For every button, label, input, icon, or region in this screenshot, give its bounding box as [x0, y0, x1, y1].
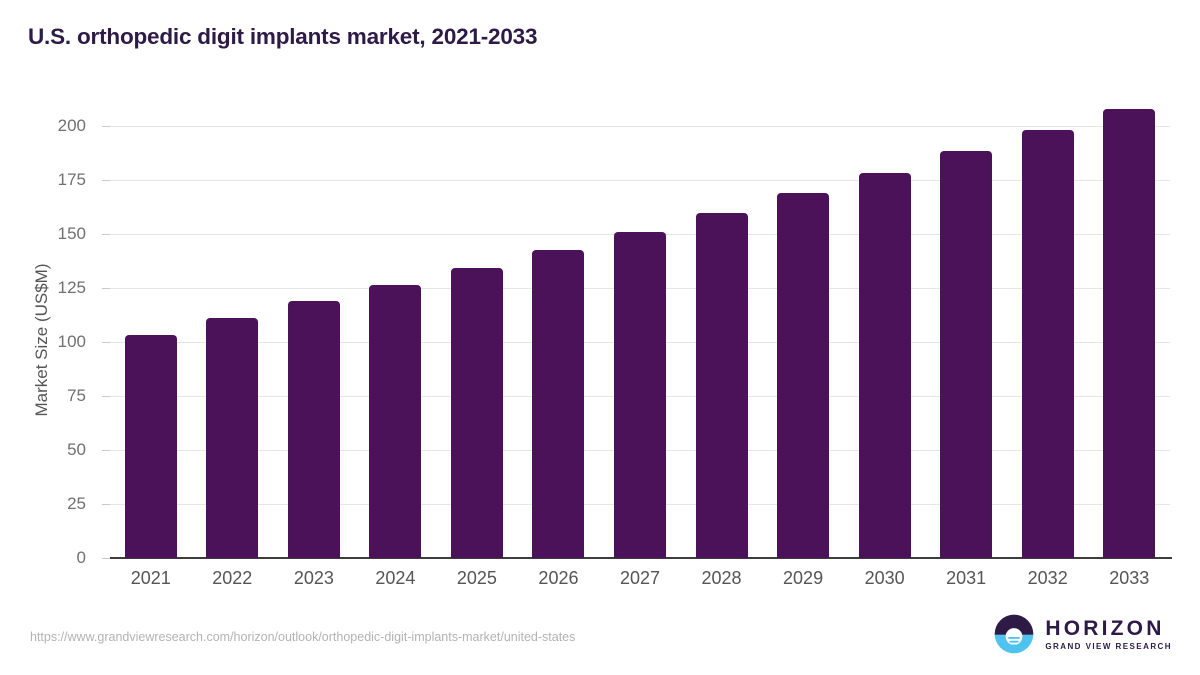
bar-2027[interactable] — [614, 232, 666, 558]
bar-2025[interactable] — [451, 268, 503, 558]
bar-2032[interactable] — [1022, 130, 1074, 558]
x-tick-label: 2025 — [457, 568, 497, 589]
bar-2033[interactable] — [1103, 109, 1155, 558]
bar-2022[interactable] — [206, 318, 258, 558]
y-tick-mark — [102, 288, 110, 289]
y-tick-label: 25 — [26, 494, 86, 514]
y-tick-mark — [102, 234, 110, 235]
x-tick-label: 2021 — [131, 568, 171, 589]
x-tick-label: 2031 — [946, 568, 986, 589]
y-tick-label: 75 — [26, 386, 86, 406]
horizon-logo-text: HORIZON GRAND VIEW RESEARCH — [1045, 618, 1172, 651]
x-tick-label: 2027 — [620, 568, 660, 589]
y-tick-mark — [102, 180, 110, 181]
y-tick-mark — [102, 342, 110, 343]
y-tick-mark — [102, 450, 110, 451]
y-tick-label: 0 — [26, 548, 86, 568]
chart-plot-area: Market Size (US$M) 025507510012515017520… — [0, 0, 1200, 675]
y-tick-label: 50 — [26, 440, 86, 460]
x-tick-label: 2030 — [865, 568, 905, 589]
y-tick-label: 175 — [26, 170, 86, 190]
bar-2023[interactable] — [288, 301, 340, 558]
bar-2028[interactable] — [696, 213, 748, 558]
x-tick-label: 2026 — [538, 568, 578, 589]
y-tick-mark — [102, 396, 110, 397]
chart-card: U.S. orthopedic digit implants market, 2… — [0, 0, 1200, 675]
bar-2029[interactable] — [777, 193, 829, 558]
y-tick-label: 200 — [26, 116, 86, 136]
y-tick-label: 125 — [26, 278, 86, 298]
bars-group — [110, 100, 1170, 558]
x-tick-label: 2033 — [1109, 568, 1149, 589]
bar-2021[interactable] — [125, 335, 177, 558]
y-tick-label: 100 — [26, 332, 86, 352]
bar-2024[interactable] — [369, 285, 421, 558]
x-tick-label: 2022 — [212, 568, 252, 589]
x-tick-label: 2032 — [1028, 568, 1068, 589]
x-tick-label: 2028 — [702, 568, 742, 589]
horizon-logo: HORIZON GRAND VIEW RESEARCH — [993, 613, 1172, 655]
logo-tagline: GRAND VIEW RESEARCH — [1045, 643, 1172, 651]
x-tick-label: 2023 — [294, 568, 334, 589]
x-tick-label: 2029 — [783, 568, 823, 589]
logo-wordmark: HORIZON — [1045, 618, 1172, 639]
horizon-logo-icon — [993, 613, 1035, 655]
x-tick-label: 2024 — [375, 568, 415, 589]
bar-2031[interactable] — [940, 151, 992, 558]
source-url[interactable]: https://www.grandviewresearch.com/horizo… — [30, 630, 575, 644]
y-tick-mark — [102, 126, 110, 127]
bar-2030[interactable] — [859, 173, 911, 558]
y-tick-label: 150 — [26, 224, 86, 244]
y-tick-mark — [102, 504, 110, 505]
y-tick-mark — [102, 558, 110, 559]
bar-2026[interactable] — [532, 250, 584, 558]
